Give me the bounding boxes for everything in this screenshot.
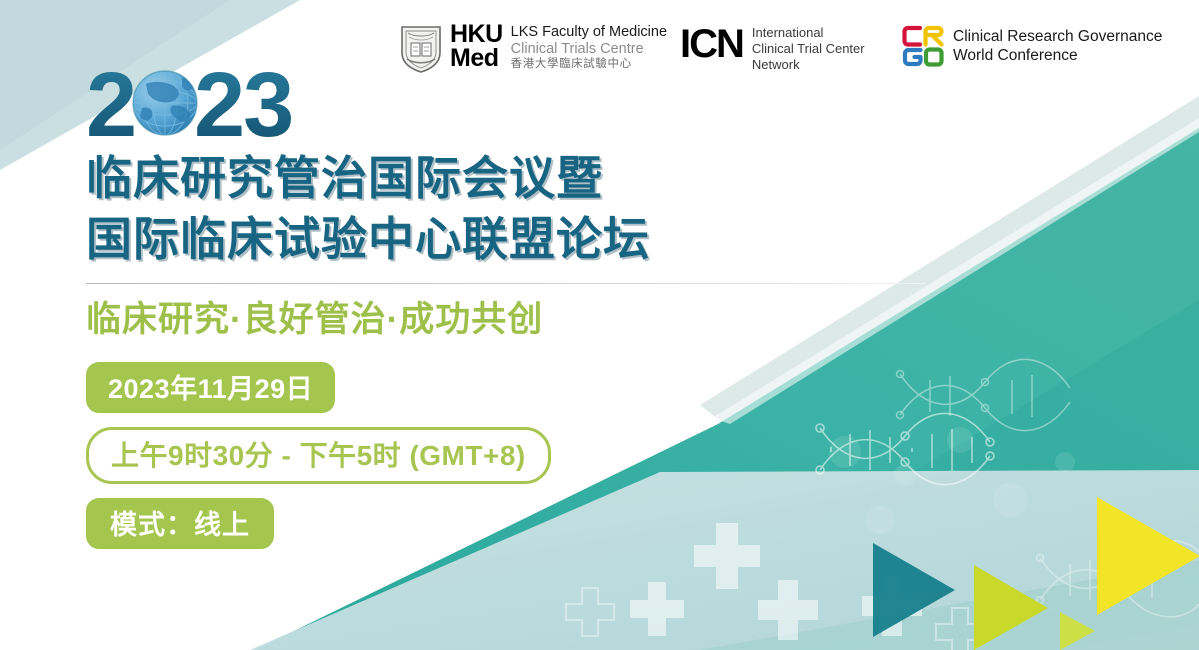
dna-helix-icon — [1037, 541, 1199, 617]
hku-centre-line: Clinical Trials Centre — [511, 41, 667, 58]
event-time-badge: 上午9时30分 - 下午5时 (GMT+8) — [86, 427, 551, 484]
globe-icon — [133, 71, 197, 135]
conference-poster: HKU Med LKS Faculty of Medicine Clinical… — [0, 0, 1199, 650]
green-band-accent — [1000, 500, 1199, 650]
medical-cross-icon — [936, 608, 984, 650]
svg-text:23: 23 — [194, 60, 292, 142]
poster-content: 2 23 — [86, 60, 986, 549]
crgo-line1: Clinical Research Governance — [953, 27, 1162, 46]
medical-cross-icon — [758, 580, 818, 640]
title-divider — [86, 283, 926, 284]
hku-faculty-line: LKS Faculty of Medicine — [511, 24, 667, 41]
medical-cross-outline-group — [566, 588, 984, 650]
triangle-icon — [873, 543, 955, 637]
event-mode-badge: 模式：线上 — [86, 498, 274, 549]
hku-wordmark-line1: HKU — [450, 22, 503, 46]
year-logo: 2 23 — [86, 60, 311, 142]
icn-line2: Clinical Trial Center — [752, 41, 865, 57]
triangle-icon — [1060, 612, 1095, 650]
medical-cross-icon — [630, 582, 684, 636]
page-title: 临床研究管治国际会议暨 国际临床试验中心联盟论坛 — [86, 148, 986, 269]
svg-text:2: 2 — [86, 60, 135, 142]
title-line-2: 国际临床试验中心联盟论坛 — [86, 209, 986, 270]
event-date-badge: 2023年11月29日 — [86, 362, 335, 413]
page-subtitle: 临床研究·良好管治·成功共创 — [86, 301, 986, 340]
icn-wordmark: ICN — [680, 24, 743, 64]
triangle-icon — [974, 565, 1048, 650]
medical-cross-icon — [566, 588, 614, 636]
pale-teal-strip — [700, 560, 1199, 650]
triangle-icon — [1097, 497, 1199, 615]
title-line-1: 临床研究管治国际会议暨 — [86, 148, 986, 209]
medical-cross-icon — [862, 576, 922, 636]
event-details: 2023年11月29日 上午9时30分 - 下午5时 (GMT+8) 模式：线上 — [86, 362, 986, 549]
icn-line1: International — [752, 25, 865, 41]
